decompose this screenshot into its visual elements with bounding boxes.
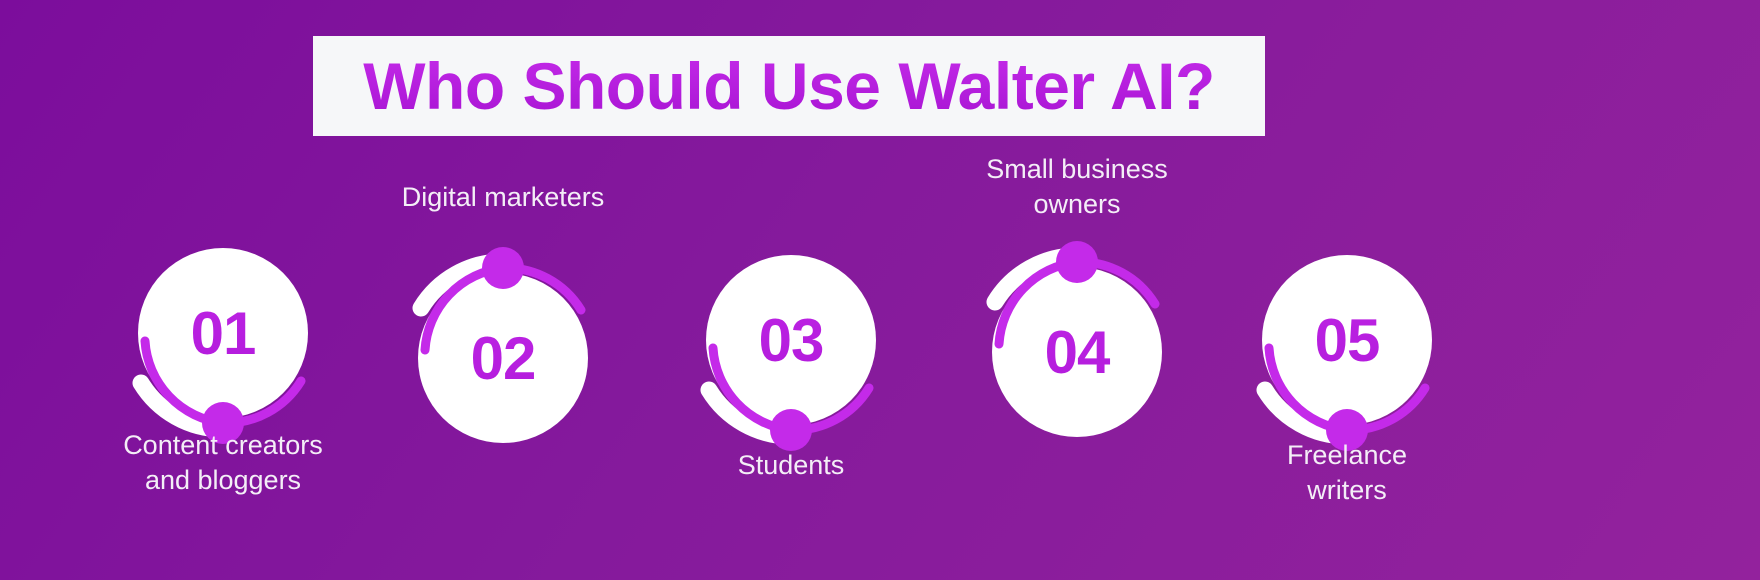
badge-03: 03 (691, 240, 891, 440)
badge-circle-icon (123, 233, 323, 433)
step-item-04[interactable]: 04 Small business owners (932, 140, 1222, 580)
step-item-02[interactable]: 02 Digital marketers (358, 140, 648, 580)
badge-01: 01 (123, 233, 323, 433)
title-banner: Who Should Use Walter AI? (313, 36, 1265, 136)
step-item-05[interactable]: 05 Freelance writers (1202, 140, 1492, 580)
step-label-01: Content creators and bloggers (78, 428, 368, 498)
step-item-01[interactable]: 01 Content creators and bloggers (78, 140, 368, 580)
badge-circle-icon (691, 240, 891, 440)
page-title: Who Should Use Walter AI? (363, 53, 1215, 119)
step-label-05: Freelance writers (1202, 438, 1492, 508)
step-label-04: Small business owners (932, 152, 1222, 352)
steps-row: 01 Content creators and bloggers 02 Digi… (0, 140, 1760, 580)
badge-05: 05 (1247, 240, 1447, 440)
step-label-03: Students (646, 448, 936, 483)
step-label-02: Digital marketers (358, 180, 648, 352)
step-item-03[interactable]: 03 Students (646, 140, 936, 580)
badge-circle-icon (1247, 240, 1447, 440)
